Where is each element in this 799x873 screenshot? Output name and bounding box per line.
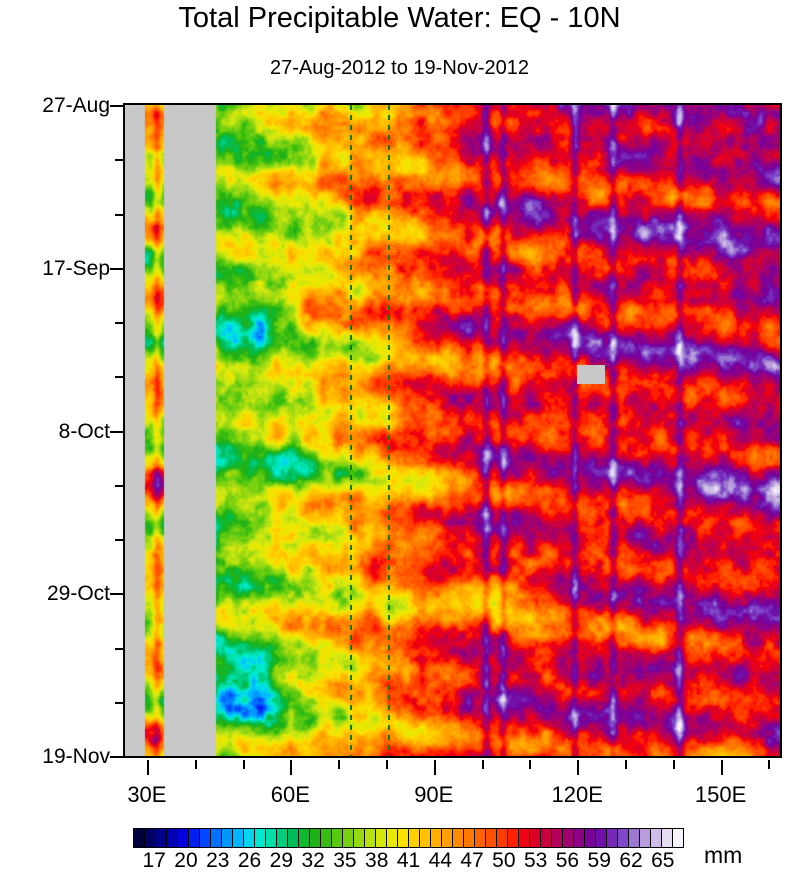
colorbar-swatch — [178, 829, 189, 847]
colorbar-swatch — [618, 829, 629, 847]
colorbar-swatch — [486, 829, 497, 847]
colorbar-swatch — [277, 829, 288, 847]
y-tick-minor — [115, 214, 123, 216]
y-tick-major — [110, 593, 123, 595]
x-tick-minor — [529, 760, 531, 769]
x-tick-major — [147, 760, 149, 775]
colorbar-swatch — [398, 829, 409, 847]
colorbar-tick-label: 35 — [333, 849, 356, 873]
colorbar-swatch — [530, 829, 541, 847]
colorbar-tick-label: 23 — [206, 849, 229, 873]
colorbar-swatch — [629, 829, 640, 847]
colorbar-swatch — [145, 829, 156, 847]
colorbar-swatch — [662, 829, 673, 847]
y-tick-major — [110, 268, 123, 270]
colorbar-tick-label: 20 — [174, 849, 197, 873]
x-tick-minor — [195, 760, 197, 769]
y-tick-major — [110, 105, 123, 107]
colorbar-swatch — [585, 829, 596, 847]
colorbar-swatch — [376, 829, 387, 847]
colorbar-tick-label: 59 — [588, 849, 611, 873]
hovmoller-plot — [123, 103, 782, 758]
colorbar-swatch — [475, 829, 486, 847]
colorbar-swatch — [464, 829, 475, 847]
colorbar-unit-label: mm — [704, 842, 742, 869]
y-axis-ticks — [123, 103, 124, 758]
colorbar-swatch — [607, 829, 618, 847]
missing-data-patch — [577, 365, 606, 384]
colorbar-swatch — [673, 829, 683, 847]
colorbar-tick-label: 50 — [492, 849, 515, 873]
x-tick-minor — [673, 760, 675, 769]
colorbar-swatch — [519, 829, 530, 847]
colorbar-swatch — [640, 829, 651, 847]
y-tick-minor — [115, 702, 123, 704]
y-tick-minor — [115, 539, 123, 541]
x-tick-major — [434, 760, 436, 775]
colorbar-swatch — [365, 829, 376, 847]
colorbar-swatch — [552, 829, 563, 847]
colorbar-swatch — [541, 829, 552, 847]
colorbar-swatch — [321, 829, 332, 847]
colorbar-tick-label: 62 — [619, 849, 642, 873]
x-tick-label: 120E — [551, 782, 602, 808]
colorbar-swatch — [387, 829, 398, 847]
y-tick-label: 27-Aug — [0, 94, 110, 118]
y-tick-major — [110, 431, 123, 433]
colorbar-swatch — [343, 829, 354, 847]
y-tick-minor — [115, 485, 123, 487]
y-tick-minor — [115, 376, 123, 378]
x-tick-major — [290, 760, 292, 775]
colorbar-swatch — [651, 829, 662, 847]
colorbar-swatch — [299, 829, 310, 847]
colorbar-tick-label: 53 — [524, 849, 547, 873]
colorbar-swatch — [497, 829, 508, 847]
colorbar-swatch — [156, 829, 167, 847]
annotation-dashed-line — [388, 105, 390, 756]
colorbar-swatch — [354, 829, 365, 847]
colorbar-swatch — [420, 829, 431, 847]
colorbar-swatch — [244, 829, 255, 847]
colorbar-tick-label: 65 — [651, 849, 674, 873]
colorbar-swatch — [574, 829, 585, 847]
colorbar-tick-label: 44 — [429, 849, 452, 873]
x-tick-label: 150E — [695, 782, 746, 808]
x-tick-label: 90E — [414, 782, 453, 808]
x-tick-major — [721, 760, 723, 775]
colorbar — [133, 828, 684, 848]
page-title: Total Precipitable Water: EQ - 10N — [0, 2, 799, 35]
colorbar-swatch — [233, 829, 244, 847]
colorbar-swatch — [211, 829, 222, 847]
colorbar-swatch — [332, 829, 343, 847]
colorbar-tick-label: 17 — [143, 849, 166, 873]
page-subtitle: 27-Aug-2012 to 19-Nov-2012 — [0, 57, 799, 80]
x-tick-major — [577, 760, 579, 775]
x-tick-minor — [482, 760, 484, 769]
colorbar-swatch — [442, 829, 453, 847]
y-tick-label: 17-Sep — [0, 257, 110, 281]
y-tick-major — [110, 756, 123, 758]
x-axis-ticks — [123, 760, 782, 780]
colorbar-tick-label: 26 — [238, 849, 261, 873]
colorbar-swatch — [508, 829, 519, 847]
precipitable-water-field — [125, 105, 780, 756]
colorbar-swatch — [310, 829, 321, 847]
colorbar-tick-label: 29 — [270, 849, 293, 873]
colorbar-swatch — [255, 829, 266, 847]
colorbar-swatch — [200, 829, 211, 847]
y-axis-labels: 27-Aug17-Sep8-Oct29-Oct19-Nov — [0, 103, 110, 758]
x-tick-minor — [243, 760, 245, 769]
colorbar-tick-label: 56 — [556, 849, 579, 873]
colorbar-swatch — [431, 829, 442, 847]
colorbar-swatch — [409, 829, 420, 847]
y-tick-minor — [115, 648, 123, 650]
colorbar-tick-label: 47 — [460, 849, 483, 873]
colorbar-swatch — [167, 829, 178, 847]
colorbar-swatch — [453, 829, 464, 847]
y-tick-label: 29-Oct — [0, 582, 110, 606]
y-tick-minor — [115, 322, 123, 324]
annotation-dashed-line — [350, 105, 352, 756]
y-tick-minor — [115, 159, 123, 161]
x-tick-label: 30E — [127, 782, 166, 808]
x-tick-minor — [386, 760, 388, 769]
x-axis-labels: 30E60E90E120E150E — [123, 782, 782, 812]
colorbar-swatch — [563, 829, 574, 847]
colorbar-tick-labels: 1720232629323538414447505356596265 — [133, 849, 684, 873]
colorbar-tick-label: 38 — [365, 849, 388, 873]
colorbar-swatch — [222, 829, 233, 847]
colorbar-swatch — [189, 829, 200, 847]
x-tick-minor — [625, 760, 627, 769]
colorbar-swatch — [266, 829, 277, 847]
x-tick-minor — [768, 760, 770, 769]
y-tick-label: 8-Oct — [0, 420, 110, 444]
colorbar-swatch — [134, 829, 145, 847]
x-tick-label: 60E — [271, 782, 310, 808]
x-tick-minor — [338, 760, 340, 769]
colorbar-swatch — [288, 829, 299, 847]
y-tick-label: 19-Nov — [0, 745, 110, 769]
colorbar-tick-label: 41 — [397, 849, 420, 873]
colorbar-tick-label: 32 — [301, 849, 324, 873]
colorbar-swatch — [596, 829, 607, 847]
